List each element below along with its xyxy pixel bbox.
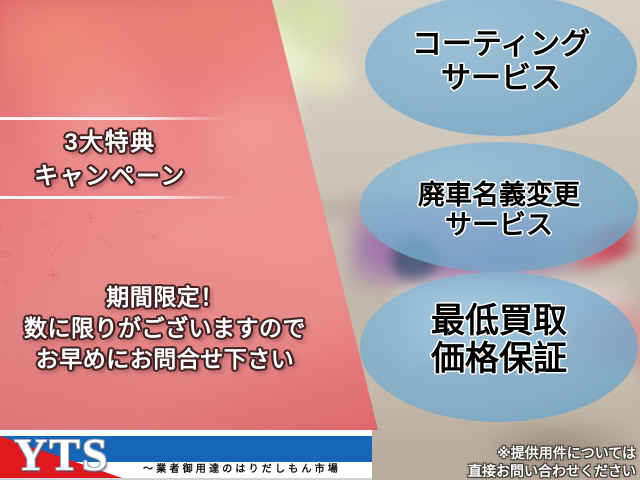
campaign-heading-line1: 3大特典 bbox=[0, 126, 220, 160]
limited-time-notice: 期間限定！ 数に限りがございますので お早めにお問合せ下さい bbox=[0, 282, 330, 375]
logo-tagline: ～業者御用達のはりだしもん市場 bbox=[143, 460, 341, 475]
limited-notice-line3: お早めにお問合せ下さい bbox=[0, 344, 330, 375]
disclaimer-line2: 直接お問い合わせください bbox=[468, 462, 636, 480]
benefit-3-line2: 価格保証 bbox=[360, 340, 638, 378]
divider-line-top bbox=[0, 117, 228, 120]
benefit-2-line1: 廃車名義変更 bbox=[360, 180, 638, 210]
divider-line-bottom bbox=[0, 196, 240, 199]
campaign-heading: 3大特典 キャンペーン bbox=[0, 126, 220, 194]
benefit-2-line2: サービス bbox=[360, 210, 638, 240]
benefit-label-title-transfer: 廃車名義変更 サービス bbox=[360, 180, 638, 240]
promo-banner: × ÷ ＋ − ＝ ／ ＼ × ÷ ＋ 3大特典 キャンペーン 期間限定！ 数に… bbox=[0, 0, 640, 480]
campaign-heading-line2: キャンペーン bbox=[0, 160, 220, 194]
disclaimer-note: ※提供用件については 直接お問い合わせください bbox=[468, 444, 636, 480]
company-logo-bar: YTS ～業者御用達のはりだしもん市場 bbox=[0, 430, 372, 480]
benefit-1-line2: サービス bbox=[365, 62, 637, 96]
benefit-label-price-guarantee: 最低買取 価格保証 bbox=[360, 302, 638, 378]
limited-notice-line2: 数に限りがございますので bbox=[0, 313, 330, 344]
benefit-1-line1: コーティング bbox=[365, 28, 637, 62]
benefit-label-coating: コーティング サービス bbox=[365, 28, 637, 95]
logo-wordmark: YTS bbox=[14, 432, 109, 478]
plant-blob-icon bbox=[300, 52, 352, 96]
disclaimer-line1: ※提供用件については bbox=[468, 444, 636, 462]
benefit-3-line1: 最低買取 bbox=[360, 302, 638, 340]
limited-notice-line1: 期間限定！ bbox=[0, 282, 330, 313]
